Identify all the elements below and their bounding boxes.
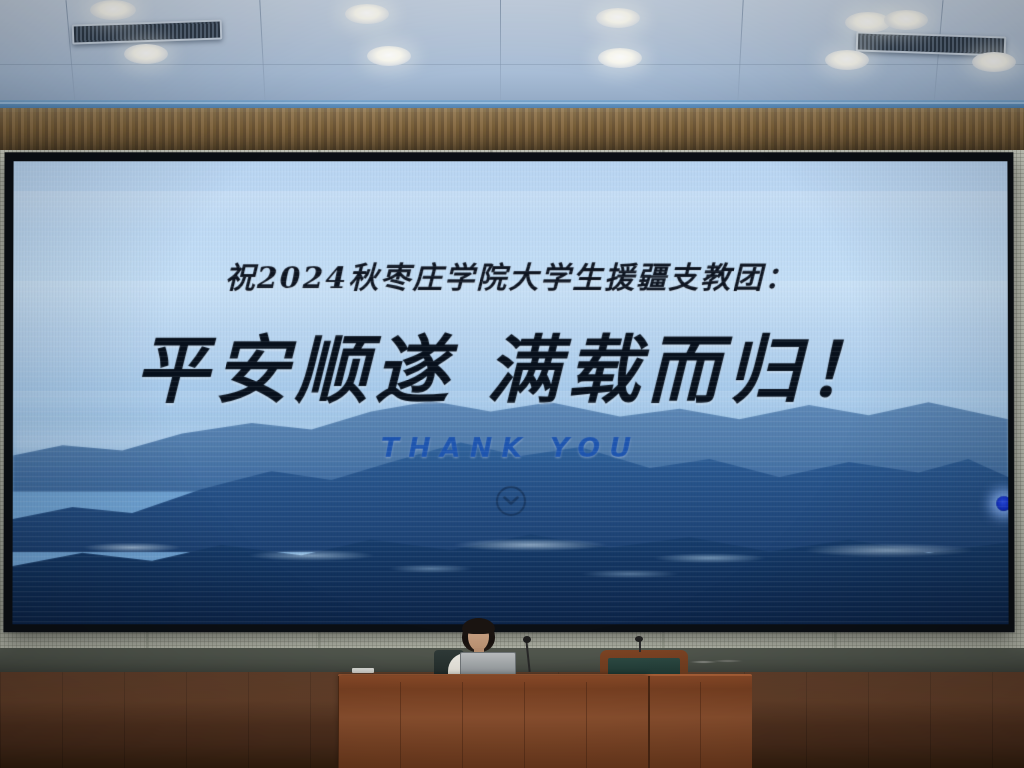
slide-canvas: 祝2024秋枣庄学院大学生援疆支教团： 平安顺遂 满载而归！ THANK YOU — [12, 161, 1008, 624]
slide-title: 祝2024秋枣庄学院大学生援疆支教团： — [13, 253, 1008, 297]
main-podium-desk — [338, 676, 648, 768]
desk-paper — [352, 668, 374, 673]
ac-vent-left — [72, 19, 223, 44]
blue-led-indicator — [996, 496, 1008, 511]
desk-microphone-head — [523, 636, 531, 643]
auditorium-scene: 祝2024秋枣庄学院大学生援疆支教团： 平安顺遂 满载而归！ THANK YOU — [0, 0, 1024, 768]
ceiling-downlight — [345, 4, 389, 24]
ceiling — [0, 0, 1024, 104]
chevron-down-icon[interactable] — [495, 486, 525, 516]
slide-headline: 平安顺遂 满载而归！ — [13, 311, 1008, 418]
ceiling-downlight — [367, 46, 411, 66]
led-video-wall[interactable]: 祝2024秋枣庄学院大学生援疆支教团： 平安顺遂 满载而归！ THANK YOU — [3, 152, 1014, 632]
slide-text-block: 祝2024秋枣庄学院大学生援疆支教团： 平安顺遂 满载而归！ THANK YOU — [12, 161, 1008, 624]
ceiling-downlight — [825, 50, 869, 70]
ceiling-downlight — [90, 0, 136, 20]
desk-cables — [690, 657, 744, 667]
ceiling-downlight — [884, 10, 928, 30]
ceiling-downlight — [124, 44, 168, 64]
slide-thank-you-text: THANK YOU — [13, 433, 1008, 464]
ceiling-downlight — [972, 52, 1016, 72]
ceiling-downlight — [596, 8, 640, 28]
lectern-microphone-head — [635, 636, 643, 642]
ceiling-downlight — [598, 48, 642, 68]
wood-slat-band — [0, 108, 1024, 156]
